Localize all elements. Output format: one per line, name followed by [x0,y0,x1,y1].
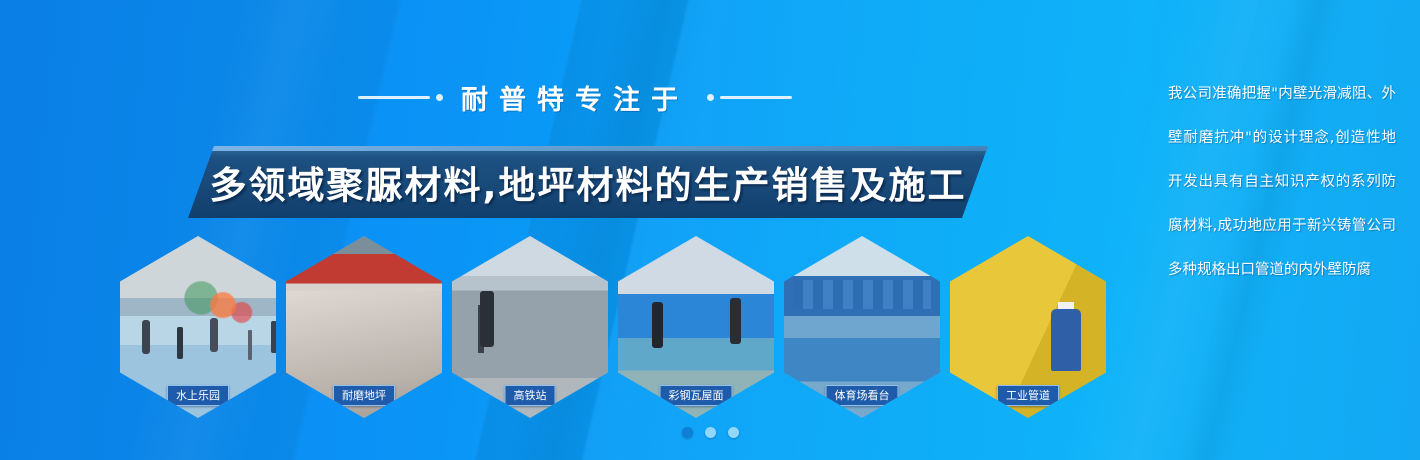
gallery-caption: 彩钢瓦屋面 [660,385,733,406]
carousel-dot-1[interactable] [682,427,693,438]
company-description: 我公司准确把握"内壁光滑减阻、外壁耐磨抗冲"的设计理念,创造性地开发出具有自主知… [1168,72,1396,292]
page-title: 多领域聚脲材料,地坪材料的生产销售及施工 [188,146,988,218]
gallery-item-high-speed-rail-station[interactable]: 高铁站 [452,236,608,418]
gallery-item-wear-resistant-floor[interactable]: 耐磨地坪 [286,236,442,418]
gallery-caption: 耐磨地坪 [333,385,395,406]
gallery-item-color-steel-tile-roof[interactable]: 彩钢瓦屋面 [618,236,774,418]
carousel-dot-3[interactable] [728,427,739,438]
gallery-caption: 工业管道 [997,385,1059,406]
hexagon-gallery: 水上乐园 耐磨地坪 高铁站 彩钢瓦屋面 体育场看台 工业管道 [120,236,1130,418]
kicker-rule-left-icon [358,94,443,101]
gallery-item-stadium-stand[interactable]: 体育场看台 [784,236,940,418]
kicker-row: 耐普特专注于 [0,78,1150,117]
gallery-item-water-park[interactable]: 水上乐园 [120,236,276,418]
kicker-rule-right-icon [707,94,792,101]
gallery-caption: 水上乐园 [167,385,229,406]
promo-banner: 耐普特专注于 多领域聚脲材料,地坪材料的生产销售及施工 水上乐园 耐磨地坪 高铁… [0,0,1420,460]
gallery-item-industrial-pipeline[interactable]: 工业管道 [950,236,1106,418]
title-ribbon: 多领域聚脲材料,地坪材料的生产销售及施工 [188,146,988,218]
kicker-text: 耐普特专注于 [461,78,689,117]
carousel-dot-2[interactable] [705,427,716,438]
gallery-caption: 体育场看台 [826,385,899,406]
carousel-dots [0,427,1420,438]
gallery-caption: 高铁站 [505,385,556,406]
